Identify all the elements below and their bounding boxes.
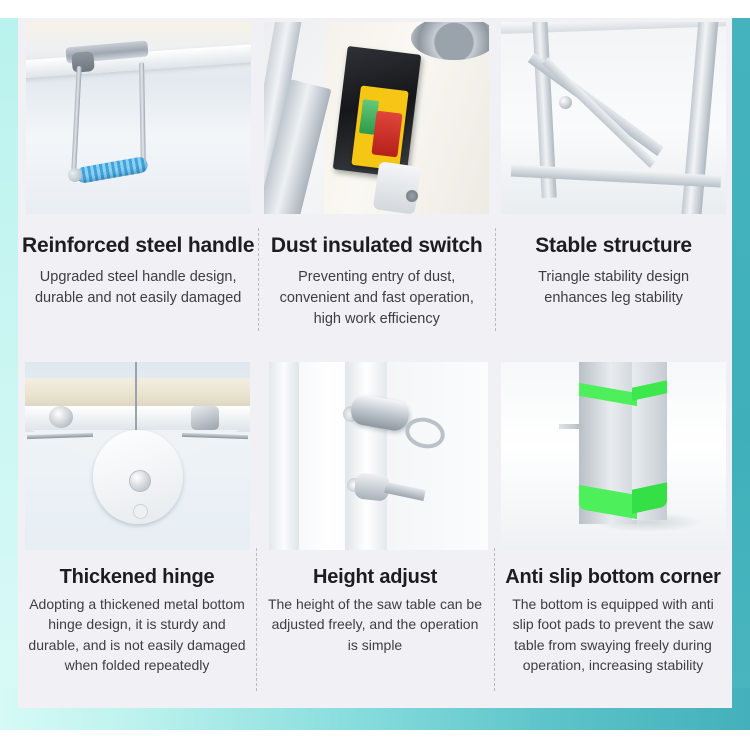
feature-card: Reinforced steel handle Upgraded steel h… [18, 18, 732, 708]
feature-description: Adopting a thickened metal bottom hinge … [22, 594, 252, 675]
stable-structure-photo [501, 22, 726, 214]
bottom-white-margin [0, 730, 750, 750]
feature-cell-dust-insulated-switch[interactable]: Dust insulated switch Preventing entry o… [258, 18, 495, 348]
feature-description: The bottom is equipped with anti slip fo… [498, 594, 728, 675]
feature-title: Stable structure [535, 234, 692, 257]
right-border-band [732, 18, 750, 708]
feature-title: Anti slip bottom corner [505, 566, 720, 588]
feature-cell-reinforced-steel-handle[interactable]: Reinforced steel handle Upgraded steel h… [18, 18, 258, 348]
thickened-hinge-photo [25, 362, 250, 550]
feature-cell-height-adjust[interactable]: Height adjust The height of the saw tabl… [256, 348, 494, 708]
steel-handle-photo [26, 22, 251, 214]
feature-title: Height adjust [313, 566, 437, 588]
feature-description: Triangle stability design enhances leg s… [499, 267, 728, 309]
feature-row-top: Reinforced steel handle Upgraded steel h… [18, 18, 732, 348]
height-adjust-photo [263, 362, 488, 550]
feature-description: Preventing entry of dust, convenient and… [262, 267, 491, 330]
dust-switch-photo [264, 22, 489, 214]
feature-cell-anti-slip-bottom-corner[interactable]: Anti slip bottom corner The bottom is eq… [494, 348, 732, 708]
feature-title: Dust insulated switch [271, 234, 483, 257]
feature-title: Reinforced steel handle [22, 234, 254, 257]
feature-title: Thickened hinge [60, 566, 215, 588]
feature-row-bottom: Thickened hinge Adopting a thickened met… [18, 348, 732, 708]
anti-slip-corner-photo [501, 362, 726, 550]
top-border-band [0, 0, 750, 18]
feature-cell-thickened-hinge[interactable]: Thickened hinge Adopting a thickened met… [18, 348, 256, 708]
product-feature-grid: Reinforced steel handle Upgraded steel h… [0, 0, 750, 750]
feature-description: The height of the saw table can be adjus… [260, 594, 490, 655]
feature-description: Upgraded steel handle design, durable an… [22, 267, 254, 309]
feature-cell-stable-structure[interactable]: Stable structure Triangle stability desi… [495, 18, 732, 348]
left-border-band [0, 18, 18, 708]
